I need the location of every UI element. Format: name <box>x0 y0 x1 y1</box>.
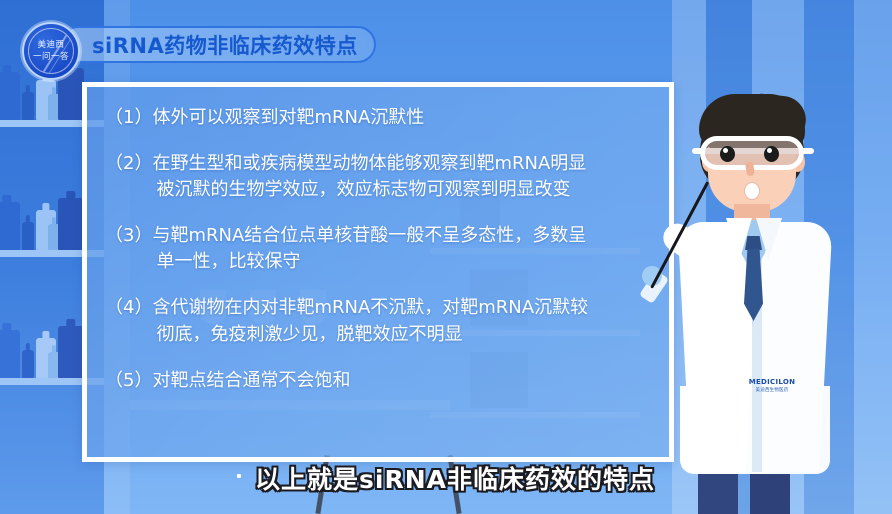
bullet-line-2: 彻底，免疫刺激少见，脱靶效应不明显 <box>152 322 655 348</box>
bullet-number: （2） <box>105 151 152 203</box>
character-eye-right <box>764 146 779 162</box>
list-item: （3） 与靶mRNA结合位点单核苷酸一般不呈多态性，多数呈 单一性，比较保守 <box>105 223 655 275</box>
bullet-line-1: 对靶点结合通常不会饱和 <box>152 370 350 391</box>
whiteboard: （1） 体外可以观察到对靶mRNA沉默性 （2） 在野生型和或疾病模型动物体能够… <box>82 82 674 462</box>
slide-canvas: （1） 体外可以观察到对靶mRNA沉默性 （2） 在野生型和或疾病模型动物体能够… <box>0 0 892 514</box>
bottle-silhouette <box>22 222 34 250</box>
logo-inner: 美迪西 一问一答 <box>28 28 74 74</box>
lab-coat-badge: MEDICILON 美迪西生物医药 <box>736 378 808 393</box>
subtitle-text: 以上就是siRNA非临床药效的特点 <box>255 465 655 494</box>
presenter-character: MEDICILON 美迪西生物医药 <box>640 86 890 514</box>
badge-brand-name: MEDICILON <box>736 378 808 386</box>
bottle-silhouette <box>0 202 20 250</box>
bullet-line-1: 与靶mRNA结合位点单核苷酸一般不呈多态性，多数呈 <box>152 225 586 246</box>
bottle-silhouette <box>58 326 84 378</box>
character-tie-knot <box>745 236 762 250</box>
subtitle-caption: 以上就是siRNA非临床药效的特点 <box>0 460 892 496</box>
bullet-line-1: 体外可以观察到对靶mRNA沉默性 <box>152 107 424 128</box>
bullet-number: （3） <box>105 223 152 275</box>
bottle-silhouette <box>22 350 34 378</box>
bullet-list: （1） 体外可以观察到对靶mRNA沉默性 （2） 在野生型和或疾病模型动物体能够… <box>105 105 655 414</box>
bottle-silhouette <box>58 198 84 250</box>
bullet-line-2: 被沉默的生物学效应，效应标志物可观察到明显改变 <box>152 177 655 203</box>
page-title-pill: siRNA药物非临床药效特点 <box>60 26 376 63</box>
bullet-text: 体外可以观察到对靶mRNA沉默性 <box>152 105 655 131</box>
bullet-text: 对靶点结合通常不会饱和 <box>152 368 655 394</box>
character-eye-left <box>720 146 735 162</box>
list-item: （1） 体外可以观察到对靶mRNA沉默性 <box>105 105 655 131</box>
subtitle-marker-dot <box>237 474 241 478</box>
bullet-line-1: 含代谢物在内对非靶mRNA不沉默，对靶mRNA沉默较 <box>152 297 588 318</box>
bullet-text: 与靶mRNA结合位点单核苷酸一般不呈多态性，多数呈 单一性，比较保守 <box>152 223 655 275</box>
bullet-number: （1） <box>105 105 152 131</box>
list-item: （4） 含代谢物在内对非靶mRNA不沉默，对靶mRNA沉默较 彻底，免疫刺激少见… <box>105 295 655 347</box>
bottle-silhouette <box>0 330 20 378</box>
bullet-line-2: 单一性，比较保守 <box>152 249 655 275</box>
bullet-number: （4） <box>105 295 152 347</box>
whiteboard-content: （1） 体外可以观察到对靶mRNA沉默性 （2） 在野生型和或疾病模型动物体能够… <box>87 87 669 457</box>
page-title: siRNA药物非临床药效特点 <box>92 30 358 60</box>
character-mouth <box>744 182 760 200</box>
list-item: （5） 对靶点结合通常不会饱和 <box>105 368 655 394</box>
bullet-text: 在野生型和或疾病模型动物体能够观察到靶mRNA明显 被沉默的生物学效应，效应标志… <box>152 151 655 203</box>
medicilon-qa-logo: 美迪西 一问一答 <box>22 22 80 80</box>
bullet-number: （5） <box>105 368 152 394</box>
badge-brand-subtitle: 美迪西生物医药 <box>736 387 808 393</box>
list-item: （2） 在野生型和或疾病模型动物体能够观察到靶mRNA明显 被沉默的生物学效应，… <box>105 151 655 203</box>
bullet-line-1: 在野生型和或疾病模型动物体能够观察到靶mRNA明显 <box>152 153 586 174</box>
bullet-text: 含代谢物在内对非靶mRNA不沉默，对靶mRNA沉默较 彻底，免疫刺激少见，脱靶效… <box>152 295 655 347</box>
bottle-silhouette <box>22 92 34 120</box>
bottle-silhouette <box>0 72 20 120</box>
